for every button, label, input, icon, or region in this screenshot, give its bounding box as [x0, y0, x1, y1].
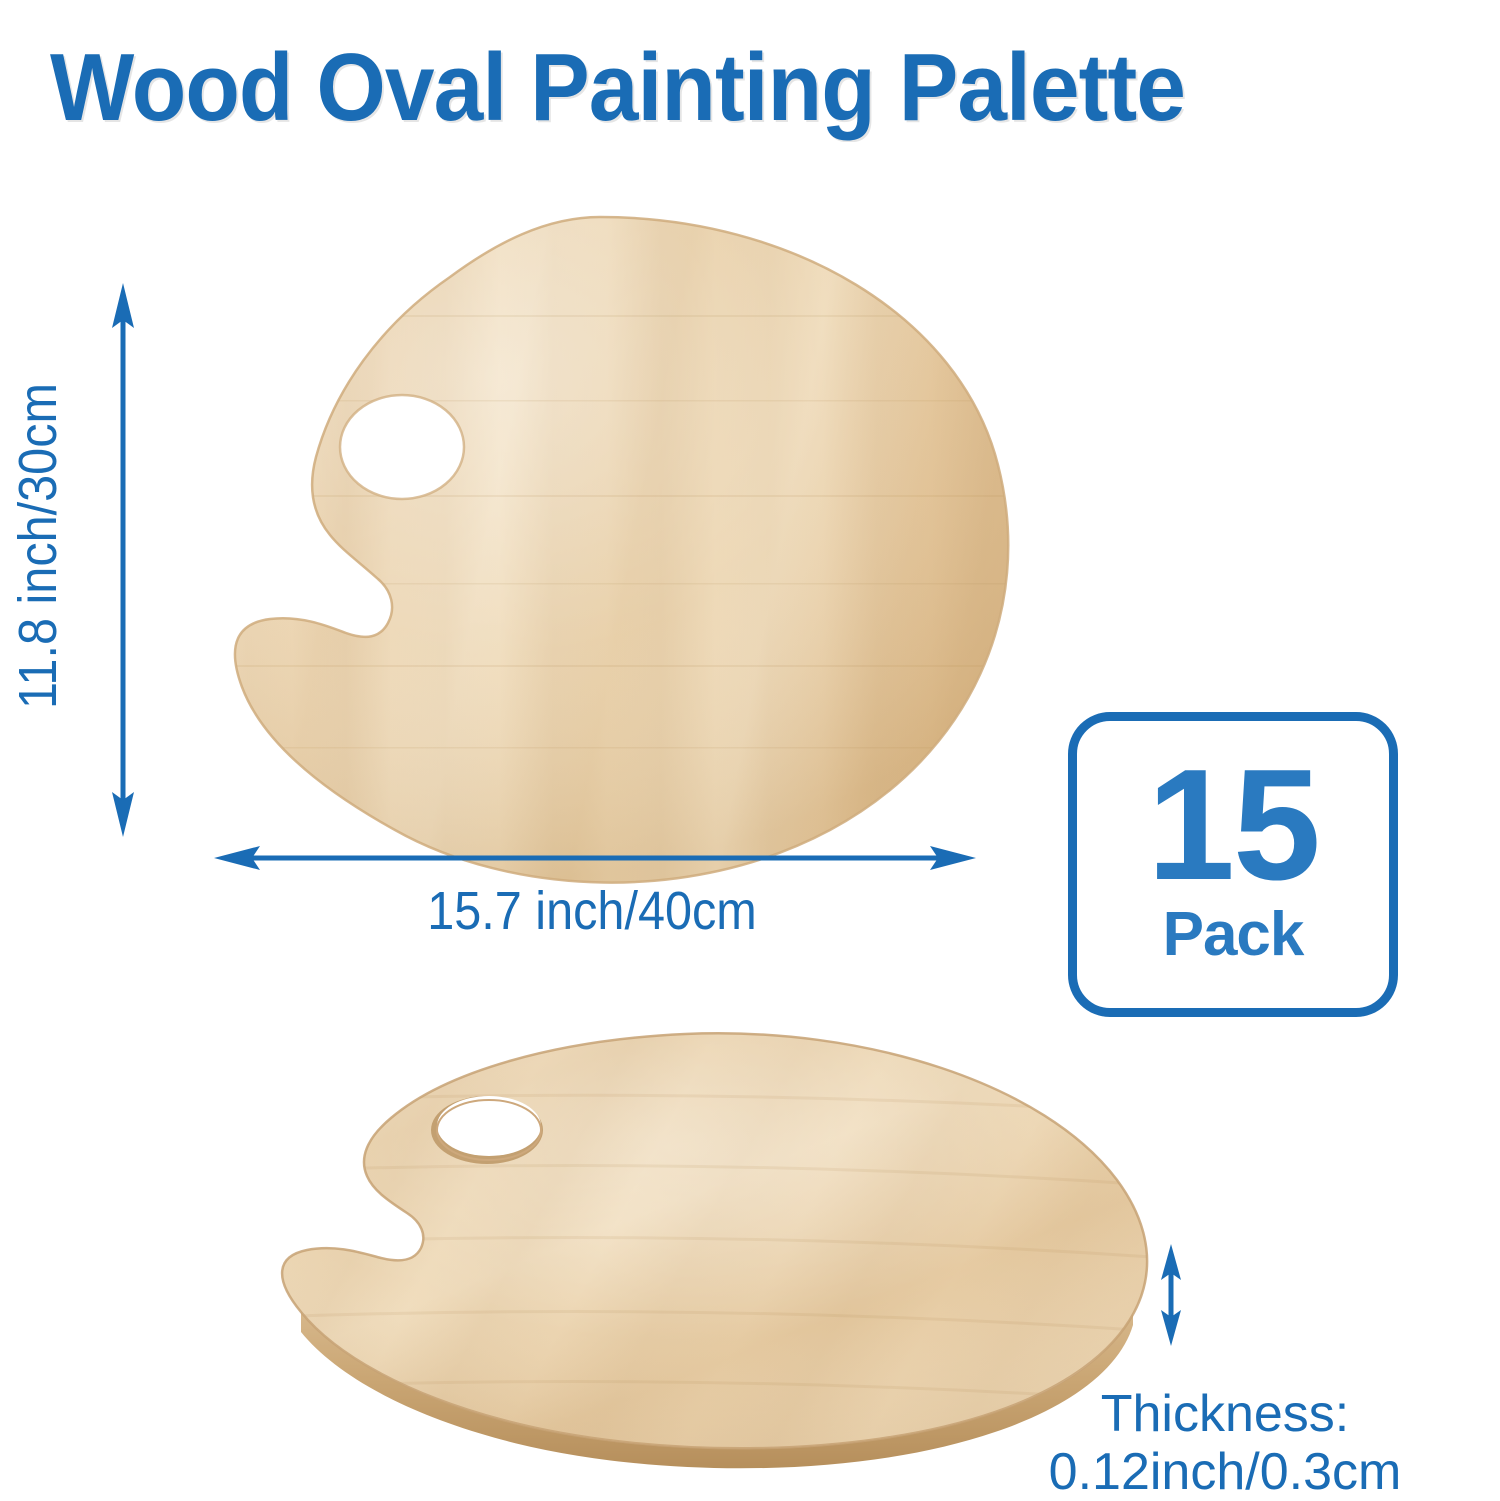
product-image-front-flat-view — [130, 195, 1030, 895]
pack-quantity-badge: 15 Pack — [1068, 712, 1398, 1017]
dimension-label-width: 15.7 inch/40cm — [264, 880, 919, 942]
dimension-arrow-width — [210, 835, 980, 885]
page-title: Wood Oval Painting Palette — [50, 38, 1371, 139]
pack-unit-label: Pack — [1163, 904, 1304, 966]
pack-count: 15 — [1147, 759, 1319, 892]
thumb-hole-angled — [431, 1096, 543, 1164]
dimension-label-height: 11.8 inch/30cm — [7, 339, 69, 753]
thumb-hole — [340, 395, 464, 499]
thickness-caption: Thickness: — [1010, 1385, 1440, 1443]
dimension-arrow-thickness — [1140, 1240, 1210, 1350]
dimension-arrow-height — [95, 280, 155, 840]
thickness-value: 0.12inch/0.3cm — [1010, 1443, 1440, 1501]
infographic-canvas: Wood Oval Painting Palette — [0, 0, 1500, 1500]
dimension-label-thickness: Thickness: 0.12inch/0.3cm — [1010, 1385, 1440, 1501]
